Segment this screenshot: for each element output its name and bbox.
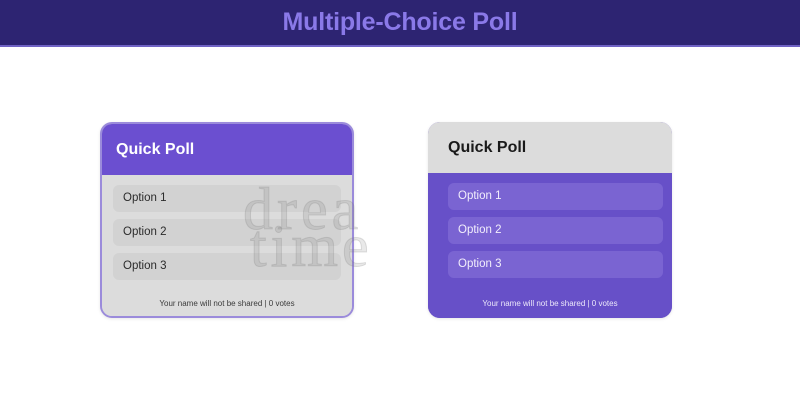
banner-underline [0,45,800,47]
page-banner: Multiple-Choice Poll [0,0,800,45]
poll-option-3[interactable]: Option 3 [448,251,663,278]
poll-option-1[interactable]: Option 1 [113,185,341,212]
poll-footer-note-light: Your name will not be shared | 0 votes [102,295,352,316]
poll-card-header-light: Quick Poll [102,124,352,175]
poll-option-2[interactable]: Option 2 [113,219,341,246]
poll-card-light[interactable]: Quick Poll Option 1 Option 2 Option 3 Yo… [100,122,354,318]
poll-options-list-dark: Option 1 Option 2 Option 3 [428,173,672,295]
poll-option-1[interactable]: Option 1 [448,183,663,210]
poll-title: Quick Poll [116,142,194,158]
poll-card-header-dark: Quick Poll [428,122,672,173]
poll-option-3[interactable]: Option 3 [113,253,341,280]
poll-option-2[interactable]: Option 2 [448,217,663,244]
poll-title: Quick Poll [448,140,526,156]
poll-card-dark[interactable]: Quick Poll Option 1 Option 2 Option 3 Yo… [428,122,672,318]
poll-footer-note-dark: Your name will not be shared | 0 votes [428,295,672,318]
poll-options-list-light: Option 1 Option 2 Option 3 [102,175,352,295]
page-title: Multiple-Choice Poll [283,10,518,35]
